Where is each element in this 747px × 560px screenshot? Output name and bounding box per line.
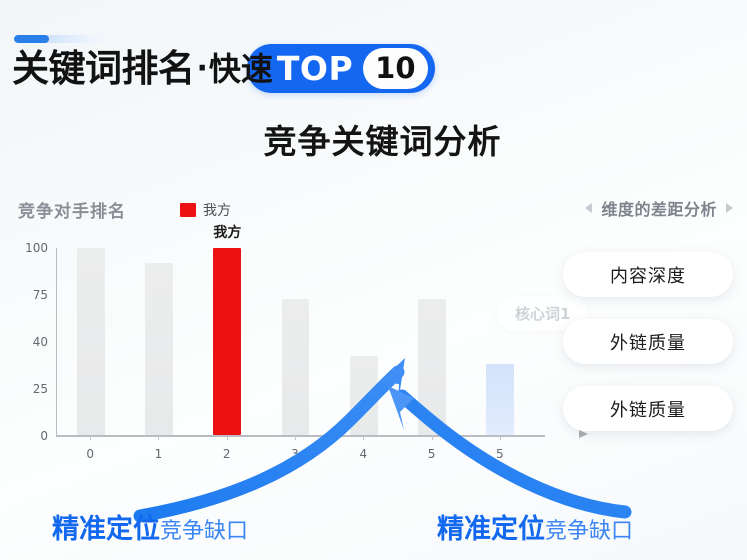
bar-slot[interactable]: 我方	[193, 248, 261, 435]
footer-right-soft: 竞争缺口	[545, 513, 633, 545]
bar-0[interactable]	[77, 248, 105, 435]
x-axis-tick: 5	[397, 440, 465, 462]
dimension-pill-3[interactable]: 外链质量	[563, 386, 733, 431]
y-axis-tick-label: 40	[14, 335, 48, 349]
triangle-right-icon	[726, 203, 733, 213]
footer-left-strong: 精准定位	[52, 507, 160, 546]
x-axis-tick-mark	[363, 435, 364, 440]
bar-2[interactable]: 我方	[213, 248, 241, 435]
x-axis-tick-mark	[227, 435, 228, 440]
dimension-pill-1[interactable]: 内容深度	[563, 252, 733, 297]
x-axis-tick-mark	[158, 435, 159, 440]
top-badge-label: TOP	[277, 52, 363, 85]
dimension-panel-header: 维度的差距分析	[585, 196, 733, 220]
legend-swatch-icon	[180, 203, 196, 217]
bar-5[interactable]	[486, 364, 514, 435]
footer-right-strong: 精准定位	[437, 507, 545, 546]
x-axis-tick: 4	[329, 440, 397, 462]
bar-slot[interactable]	[466, 248, 534, 435]
chart-legend: 我方	[180, 200, 231, 220]
footer-caption-left: 精准定位 竞争缺口	[52, 507, 248, 546]
x-axis-tick-label: 2	[223, 447, 231, 461]
dimension-pill-2[interactable]: 外链质量	[563, 319, 733, 364]
bar-5[interactable]	[418, 299, 446, 436]
headline-separator: ·	[197, 54, 208, 84]
x-axis-tick-label: 0	[86, 447, 94, 461]
dimension-list: 内容深度外链质量外链质量	[563, 252, 733, 431]
page-subtitle: 竞争关键词分析	[0, 115, 747, 163]
x-axis-tick: 5	[466, 440, 534, 462]
x-axis-tick: 2	[193, 440, 261, 462]
y-axis-tick-label: 0	[14, 429, 48, 443]
bar-slot[interactable]	[57, 248, 125, 435]
headline-main-text: 关键词排名	[12, 50, 195, 87]
x-axis-tick: 1	[124, 440, 192, 462]
headline-fast-text: 快速	[209, 53, 273, 85]
x-axis-tick-label: 3	[291, 447, 299, 461]
y-axis-tick-label: 100	[14, 241, 48, 255]
chart-plot-area: 我方	[56, 248, 534, 436]
legend-label: 我方	[203, 200, 231, 220]
bar-3[interactable]	[282, 299, 310, 436]
x-axis-tick-mark	[295, 435, 296, 440]
y-axis-tick-label: 75	[14, 288, 48, 302]
triangle-left-icon	[585, 203, 592, 213]
chart-title: 竞争对手排名	[18, 197, 126, 222]
x-axis-tick-label: 5	[496, 447, 504, 461]
footer-left-soft: 竞争缺口	[160, 513, 248, 545]
y-axis-tick-label: 25	[14, 382, 48, 396]
footer-caption-right: 精准定位 竞争缺口	[437, 507, 633, 546]
bar-slot[interactable]	[398, 248, 466, 435]
bar-highlight-label: 我方	[213, 222, 241, 242]
x-axis-tick-label: 4	[359, 447, 367, 461]
x-axis: 0123455	[56, 440, 534, 462]
bar-chart: 1007540250 我方 0123455	[14, 248, 534, 478]
x-axis-tick: 0	[56, 440, 124, 462]
x-axis-line	[56, 435, 545, 437]
top-badge: TOP 10	[247, 44, 435, 93]
progress-bar-track	[14, 35, 112, 43]
bar-1[interactable]	[145, 263, 173, 435]
x-axis-tick: 3	[261, 440, 329, 462]
bar-series: 我方	[57, 248, 534, 435]
headline: 关键词排名 · 快速 TOP 10	[12, 44, 435, 93]
top-badge-number: 10	[363, 48, 427, 89]
x-axis-tick-mark	[90, 435, 91, 440]
x-axis-tick-mark	[432, 435, 433, 440]
bar-slot[interactable]	[261, 248, 329, 435]
bar-4[interactable]	[350, 356, 378, 435]
y-axis: 1007540250	[14, 248, 48, 436]
bar-slot[interactable]	[125, 248, 193, 435]
progress-bar-fill	[14, 35, 49, 43]
x-axis-tick-mark	[500, 435, 501, 440]
infographic-canvas: 关键词排名 · 快速 TOP 10 竞争关键词分析 竞争对手排名 我方 1007…	[0, 0, 747, 560]
x-axis-tick-label: 5	[428, 447, 436, 461]
x-axis-tick-label: 1	[155, 447, 163, 461]
bar-slot[interactable]	[330, 248, 398, 435]
dimension-panel-title: 维度的差距分析	[601, 196, 717, 220]
